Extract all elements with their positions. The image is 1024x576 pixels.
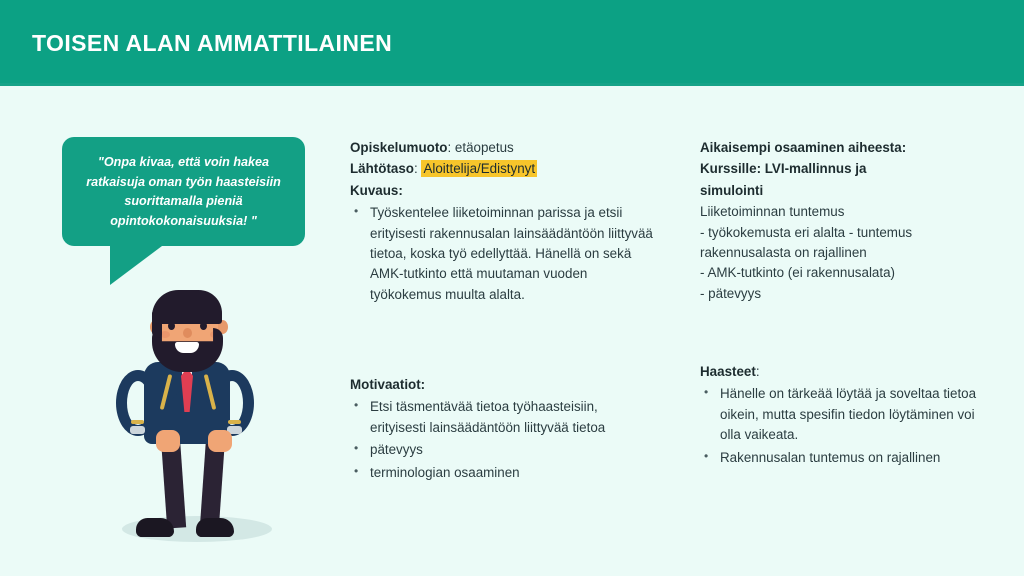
prior-knowledge-block: Aikaisempi osaaminen aiheesta: Kurssille… — [700, 138, 990, 304]
avatar-mouth — [175, 342, 199, 353]
list-item: pätevyys — [350, 440, 656, 460]
list-item: Rakennusalan tuntemus on rajallinen — [700, 448, 990, 468]
prior-knowledge-line-4: - AMK-tutkinto (ei rakennusalata) — [700, 263, 990, 283]
haasteet-heading-label: Haasteet — [700, 364, 756, 379]
prior-knowledge-heading-line-2: Kurssille: LVI-mallinnus ja — [700, 159, 990, 179]
haasteet-bullet-list: Hänelle on tärkeää löytää ja soveltaa ti… — [700, 384, 990, 468]
motivaatiot-heading: Motivaatiot: — [350, 375, 656, 395]
page-title: TOISEN ALAN AMMATTILAINEN — [32, 30, 392, 57]
kuvaus-bullet-list: Työskentelee liiketoiminnan parissa ja e… — [350, 203, 656, 305]
haasteet-heading: Haasteet: — [700, 362, 990, 382]
field-opiskelumuoto: Opiskelumuoto: etäopetus — [350, 138, 656, 158]
kuvaus-heading: Kuvaus: — [350, 181, 656, 201]
challenges-block: Haasteet: Hänelle on tärkeää löytää ja s… — [700, 362, 990, 470]
field-opiskelumuoto-label: Opiskelumuoto — [350, 140, 447, 155]
field-lahtotaso-value-highlighted: Aloittelija/Edistynyt — [421, 160, 537, 177]
haasteet-heading-suffix: : — [756, 364, 760, 379]
avatar-hair — [152, 290, 222, 324]
prior-knowledge-heading-line-3: simulointi — [700, 181, 990, 201]
quote-bubble: "Onpa kivaa, että voin hakea ratkaisuja … — [62, 137, 305, 246]
avatar-nose — [183, 328, 192, 338]
study-details-block: Opiskelumuoto: etäopetus Lähtötaso: Aloi… — [350, 138, 656, 307]
field-opiskelumuoto-separator: : — [447, 140, 454, 155]
field-lahtotaso: Lähtötaso: Aloittelija/Edistynyt — [350, 159, 656, 179]
avatar-shoe-right — [196, 518, 234, 537]
motivaatiot-bullet-list: Etsi täsmentävää tietoa työhaasteisiin, … — [350, 397, 656, 483]
avatar-cuff-trim-right — [228, 420, 241, 424]
prior-knowledge-line-3: rakennusalasta on rajallinen — [700, 243, 990, 263]
prior-knowledge-line-5: - pätevyys — [700, 284, 990, 304]
prior-knowledge-line-1: Liiketoiminnan tuntemus — [700, 202, 990, 222]
list-item: Työskentelee liiketoiminnan parissa ja e… — [350, 203, 656, 305]
prior-knowledge-heading-line-1: Aikaisempi osaaminen aiheesta: — [700, 138, 990, 158]
avatar-hand-left — [156, 430, 180, 452]
page-header: TOISEN ALAN AMMATTILAINEN — [0, 0, 1024, 86]
list-item: Hänelle on tärkeää löytää ja soveltaa ti… — [700, 384, 990, 445]
field-lahtotaso-label: Lähtötaso — [350, 161, 414, 176]
field-opiskelumuoto-value: etäopetus — [455, 140, 514, 155]
avatar-shoe-left — [136, 518, 174, 537]
quote-bubble-text: "Onpa kivaa, että voin hakea ratkaisuja … — [62, 137, 305, 246]
motivations-block: Motivaatiot: Etsi täsmentävää tietoa työ… — [350, 375, 656, 485]
prior-knowledge-line-2: - työkokemusta eri alalta - tuntemus — [700, 223, 990, 243]
persona-avatar-illustration — [100, 278, 290, 563]
avatar-hand-right — [208, 430, 232, 452]
list-item: terminologian osaaminen — [350, 463, 656, 483]
avatar-cuff-left — [130, 426, 145, 434]
avatar-cuff-trim-left — [131, 420, 144, 424]
list-item: Etsi täsmentävää tietoa työhaasteisiin, … — [350, 397, 656, 438]
